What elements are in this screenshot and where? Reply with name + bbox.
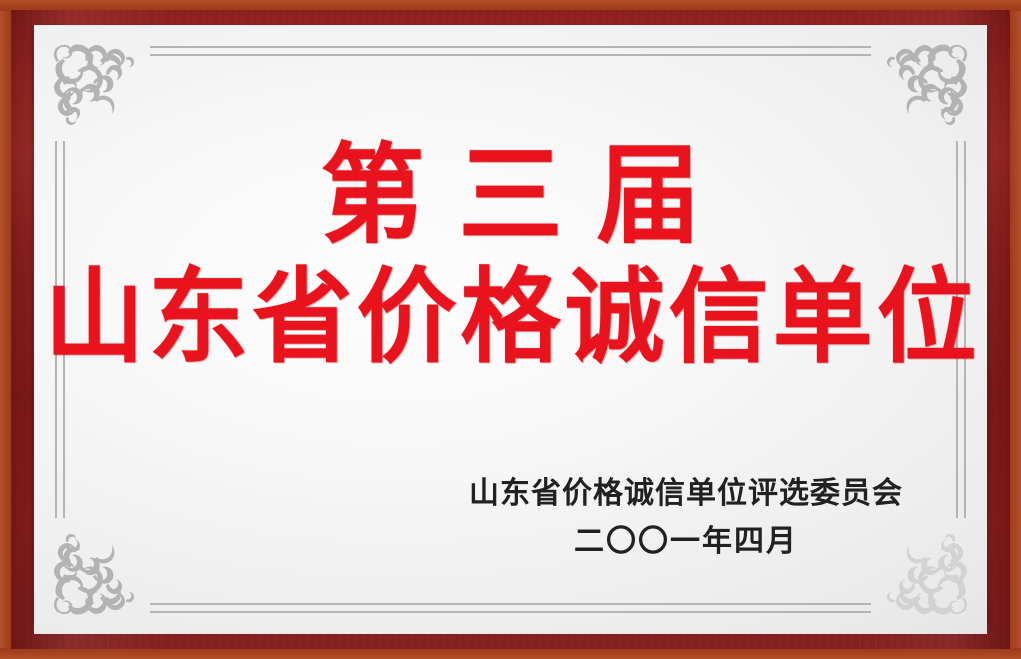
plaque-inner-panel: 第三届 山东省价格诚信单位 山东省价格诚信单位评选委员会 二〇〇一年四月 bbox=[34, 25, 987, 634]
border-rule-bottom-inner bbox=[150, 603, 871, 605]
award-plaque: 第三届 山东省价格诚信单位 山东省价格诚信单位评选委员会 二〇〇一年四月 bbox=[0, 0, 1021, 659]
border-rule-right-inner bbox=[956, 141, 958, 518]
issue-date: 二〇〇一年四月 bbox=[451, 524, 921, 560]
border-rule-left-outer bbox=[55, 141, 57, 518]
plaque-title: 第三届 山东省价格诚信单位 bbox=[34, 143, 987, 367]
border-rule-bottom-outer bbox=[150, 611, 871, 613]
border-rule-left-inner bbox=[63, 141, 65, 518]
issuing-organization: 山东省价格诚信单位评选委员会 bbox=[451, 476, 921, 512]
corner-flourish-icon bbox=[44, 35, 148, 139]
title-line-award-name: 山东省价格诚信单位 bbox=[34, 267, 987, 370]
border-rule-right-outer bbox=[964, 141, 966, 518]
signature-block: 山东省价格诚信单位评选委员会 二〇〇一年四月 bbox=[451, 476, 921, 560]
border-rule-top-outer bbox=[150, 46, 871, 48]
corner-flourish-icon bbox=[873, 35, 977, 139]
corner-flourish-icon bbox=[44, 520, 148, 624]
border-rule-top-inner bbox=[150, 54, 871, 56]
title-line-edition: 第三届 bbox=[34, 141, 987, 249]
